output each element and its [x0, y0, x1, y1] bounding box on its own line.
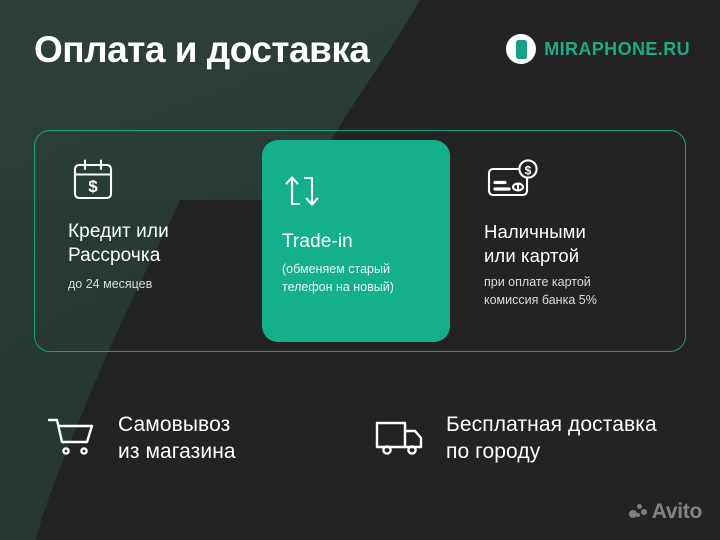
option-delivery-label-line2: по городу [446, 439, 657, 465]
feature-cash-or-card-subtitle-line2: комиссия банка 5% [484, 292, 664, 309]
feature-credit-title: Кредит или Рассрочка [68, 220, 262, 269]
feature-trade-in-title: Trade-in [282, 230, 450, 254]
svg-text:$: $ [525, 164, 532, 178]
feature-trade-in-subtitle: (обменяем старый телефон на новый) [282, 261, 450, 296]
header: Оплата и доставка MIRAPHONE.RU [0, 0, 720, 110]
feature-trade-in[interactable]: Trade-in (обменяем старый телефон на нов… [262, 140, 450, 342]
delivery-options-row: Самовывоз из магазина Бесплатная доставк… [0, 398, 720, 488]
option-delivery[interactable]: Бесплатная доставка по городу [374, 412, 657, 465]
brand-logo[interactable]: MIRAPHONE.RU [506, 34, 690, 64]
option-delivery-label: Бесплатная доставка по городу [446, 412, 657, 464]
promo-banner: Оплата и доставка MIRAPHONE.RU $ [0, 0, 720, 540]
phone-icon [506, 34, 536, 64]
option-pickup-label-line2: из магазина [118, 439, 236, 465]
feature-cash-or-card-subtitle: при оплате картой комиссия банка 5% [484, 274, 664, 309]
option-pickup[interactable]: Самовывоз из магазина [46, 412, 236, 465]
option-pickup-label: Самовывоз из магазина [118, 412, 236, 464]
swap-arrows-icon [282, 166, 450, 218]
feature-credit[interactable]: $ Кредит или Рассрочка до 24 месяцев [34, 130, 262, 352]
feature-cash-or-card-subtitle-line1: при оплате картой [484, 274, 664, 291]
feature-cash-or-card-title-line2: или картой [484, 244, 664, 268]
brand-logo-text: MIRAPHONE.RU [544, 39, 690, 60]
feature-credit-title-line1: Кредит или [68, 220, 262, 244]
calendar-dollar-icon: $ [68, 156, 262, 208]
option-pickup-label-line1: Самовывоз [118, 412, 236, 438]
features-row: $ Кредит или Рассрочка до 24 месяцев [34, 130, 686, 352]
svg-text:$: $ [88, 177, 98, 196]
feature-trade-in-subtitle-line2: телефон на новый) [282, 279, 450, 296]
phone-icon-body [516, 40, 527, 59]
feature-credit-subtitle: до 24 месяцев [68, 276, 262, 293]
feature-cash-or-card-title: Наличными или картой [484, 220, 664, 267]
shopping-cart-icon [46, 412, 100, 465]
avito-watermark: Avito [629, 500, 702, 524]
avito-dots-icon [629, 504, 647, 520]
feature-cash-or-card[interactable]: $ Наличными или картой при оплате картой… [450, 130, 664, 352]
truck-icon [374, 412, 428, 465]
feature-credit-title-line2: Рассрочка [68, 244, 262, 268]
option-delivery-label-line1: Бесплатная доставка [446, 412, 657, 438]
page-title: Оплата и доставка [34, 31, 369, 68]
feature-trade-in-subtitle-line1: (обменяем старый [282, 261, 450, 278]
avito-watermark-text: Avito [652, 500, 702, 524]
feature-cash-or-card-title-line1: Наличными [484, 220, 664, 244]
credit-card-dollar-icon: $ [484, 156, 664, 208]
